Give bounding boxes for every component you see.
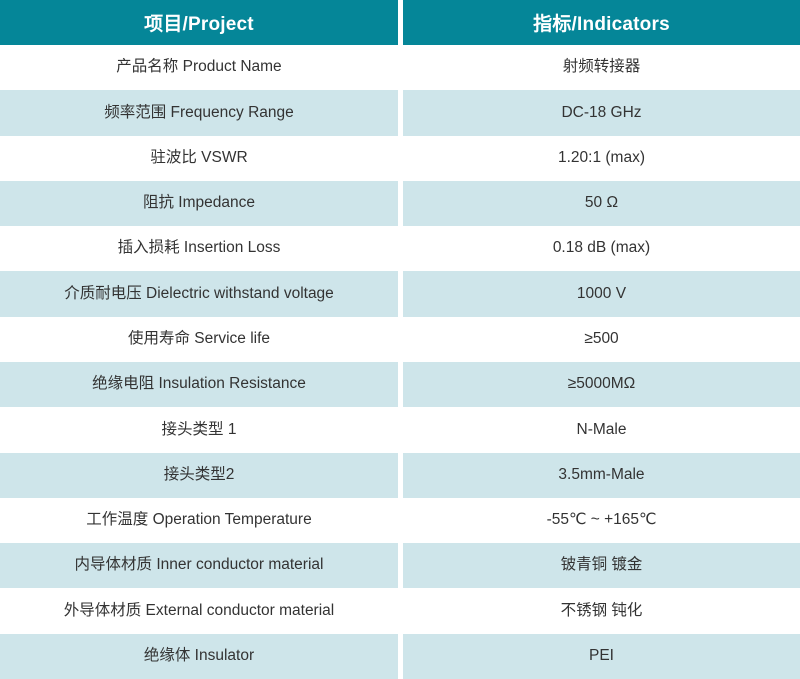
cell-indicator: DC-18 GHz (403, 90, 800, 135)
cell-indicator: PEI (403, 634, 800, 679)
table-row: 频率范围 Frequency RangeDC-18 GHz (0, 90, 800, 135)
table-row: 使用寿命 Service life≥500 (0, 317, 800, 362)
cell-project: 外导体材质 External conductor material (0, 588, 398, 633)
cell-project: 产品名称 Product Name (0, 45, 398, 90)
table-body: 产品名称 Product Name射频转接器频率范围 Frequency Ran… (0, 45, 800, 679)
cell-project: 绝缘电阻 Insulation Resistance (0, 362, 398, 407)
cell-indicator: 铍青铜 镀金 (403, 543, 800, 588)
cell-indicator: 50 Ω (403, 181, 800, 226)
cell-project: 绝缘体 Insulator (0, 634, 398, 679)
cell-project: 使用寿命 Service life (0, 317, 398, 362)
column-header-project: 项目/Project (0, 0, 398, 45)
table-row: 工作温度 Operation Temperature-55℃ ~ +165℃ (0, 498, 800, 543)
table-row: 驻波比 VSWR1.20:1 (max) (0, 136, 800, 181)
table-row: 内导体材质 Inner conductor material铍青铜 镀金 (0, 543, 800, 588)
table-row: 绝缘电阻 Insulation Resistance≥5000MΩ (0, 362, 800, 407)
table-row: 产品名称 Product Name射频转接器 (0, 45, 800, 90)
table-row: 插入损耗 Insertion Loss0.18 dB (max) (0, 226, 800, 271)
cell-project: 频率范围 Frequency Range (0, 90, 398, 135)
cell-indicator: 0.18 dB (max) (403, 226, 800, 271)
cell-project: 工作温度 Operation Temperature (0, 498, 398, 543)
table-row: 绝缘体 InsulatorPEI (0, 634, 800, 679)
cell-indicator: -55℃ ~ +165℃ (403, 498, 800, 543)
cell-project: 驻波比 VSWR (0, 136, 398, 181)
cell-indicator: 射频转接器 (403, 45, 800, 90)
cell-project: 阻抗 Impedance (0, 181, 398, 226)
cell-indicator: ≥500 (403, 317, 800, 362)
cell-indicator: 3.5mm-Male (403, 453, 800, 498)
column-header-indicators: 指标/Indicators (403, 0, 800, 45)
table-header-row: 项目/Project 指标/Indicators (0, 0, 800, 45)
cell-project: 介质耐电压 Dielectric withstand voltage (0, 271, 398, 316)
table-row: 接头类型23.5mm-Male (0, 453, 800, 498)
cell-indicator: N-Male (403, 407, 800, 452)
cell-indicator: ≥5000MΩ (403, 362, 800, 407)
cell-project: 内导体材质 Inner conductor material (0, 543, 398, 588)
cell-project: 插入损耗 Insertion Loss (0, 226, 398, 271)
cell-indicator: 1000 V (403, 271, 800, 316)
cell-indicator: 1.20:1 (max) (403, 136, 800, 181)
cell-project: 接头类型2 (0, 453, 398, 498)
cell-indicator: 不锈钢 钝化 (403, 588, 800, 633)
table-row: 阻抗 Impedance50 Ω (0, 181, 800, 226)
table-row: 接头类型 1N-Male (0, 407, 800, 452)
table-row: 介质耐电压 Dielectric withstand voltage1000 V (0, 271, 800, 316)
specification-table: 项目/Project 指标/Indicators 产品名称 Product Na… (0, 0, 800, 679)
cell-project: 接头类型 1 (0, 407, 398, 452)
table-row: 外导体材质 External conductor material不锈钢 钝化 (0, 588, 800, 633)
